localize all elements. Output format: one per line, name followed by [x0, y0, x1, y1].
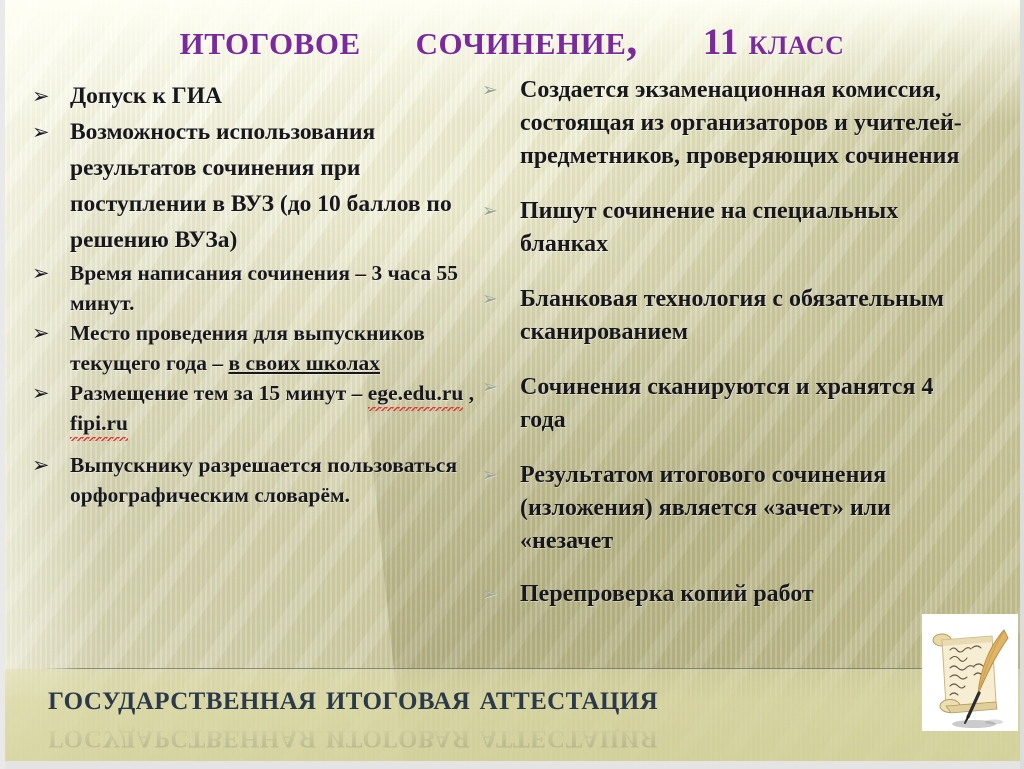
arrow-bullet-icon: ➢ — [482, 459, 498, 492]
footer-title: Государственная итоговая аттестация — [48, 676, 658, 718]
arrow-bullet-icon: ➢ — [32, 258, 50, 288]
list-item: ➢ Пишут сочинение на специальных бланках — [480, 195, 980, 261]
list-item: ➢ Создается экзаменационная комиссия, со… — [480, 74, 980, 173]
list-item: ➢ Результатом итогового сочинения (излож… — [480, 459, 980, 558]
right-content-column: ➢ Создается экзаменационная комиссия, со… — [480, 74, 980, 633]
arrow-bullet-icon: ➢ — [482, 371, 498, 404]
list-item: ➢ Перепроверка копий работ — [480, 578, 980, 611]
list-item-text: Время написания сочинения – 3 часа 55 ми… — [70, 258, 482, 318]
arrow-bullet-icon: ➢ — [482, 74, 498, 107]
list-item: ➢ Размещение тем за 15 минут – ege.edu.r… — [30, 378, 482, 438]
list-item: ➢ Бланковая технология с обязательным ск… — [480, 283, 980, 349]
list-item-text: Допуск к ГИА — [70, 78, 482, 114]
title-part-2: сочинение, — [416, 15, 638, 64]
list-item: ➢ Выпускнику разрешается пользоваться ор… — [30, 450, 482, 510]
arrow-bullet-icon: ➢ — [32, 114, 50, 150]
arrow-bullet-icon: ➢ — [32, 378, 50, 408]
misspelled-word-fipi: fipi.ru — [70, 408, 128, 438]
arrow-bullet-icon: ➢ — [482, 195, 498, 228]
list-item-text-lead: Размещение тем за 15 минут – — [70, 381, 368, 405]
scroll-and-quill-image — [922, 614, 1018, 731]
footer-divider-line — [44, 668, 954, 669]
presentation-slide: Итоговое сочинение, 11 класс ➢ Допуск к … — [0, 0, 1024, 769]
arrow-bullet-icon: ➢ — [482, 283, 498, 316]
right-bullet-list: ➢ Создается экзаменационная комиссия, со… — [480, 74, 980, 611]
arrow-bullet-icon: ➢ — [32, 78, 50, 114]
misspelled-word-ege: ege.edu.ru — [368, 378, 464, 408]
arrow-bullet-icon: ➢ — [32, 318, 50, 348]
title-part-1: Итоговое — [180, 15, 361, 64]
list-item-text: Бланковая технология с обязательным скан… — [520, 283, 980, 349]
list-item: ➢ Время написания сочинения – 3 часа 55 … — [30, 258, 482, 318]
left-bullet-list: ➢ Допуск к ГИА ➢ Возможность использован… — [30, 78, 482, 510]
arrow-bullet-icon: ➢ — [482, 578, 498, 611]
list-item: ➢ Допуск к ГИА — [30, 78, 482, 114]
slide-title: Итоговое сочинение, 11 класс — [0, 14, 1024, 65]
list-item: ➢ Место проведения для выпускников текущ… — [30, 318, 482, 378]
list-item-text-separator: , — [463, 381, 474, 405]
list-item-text: Создается экзаменационная комиссия, сост… — [520, 74, 980, 173]
title-part-3: 11 класс — [703, 22, 844, 63]
list-item-text: Размещение тем за 15 минут – ege.edu.ru … — [70, 378, 482, 438]
list-item: ➢ Возможность использования результатов … — [30, 114, 482, 258]
list-item-text-underlined: в своих школах — [228, 351, 380, 375]
left-content-column: ➢ Допуск к ГИА ➢ Возможность использован… — [30, 78, 482, 510]
arrow-bullet-icon: ➢ — [32, 450, 50, 480]
list-item-text: Место проведения для выпускников текущег… — [70, 318, 482, 378]
list-item-text: Возможность использования результатов со… — [70, 114, 482, 258]
list-item-text: Пишут сочинение на специальных бланках — [520, 195, 980, 261]
list-item-text: Сочинения сканируются и хранятся 4 года — [520, 371, 980, 437]
list-item-text: Выпускнику разрешается пользоваться орфо… — [70, 450, 482, 510]
list-item-text: Результатом итогового сочинения (изложен… — [520, 459, 980, 558]
list-item-text: Перепроверка копий работ — [520, 578, 980, 611]
list-item: ➢ Сочинения сканируются и хранятся 4 год… — [480, 371, 980, 437]
